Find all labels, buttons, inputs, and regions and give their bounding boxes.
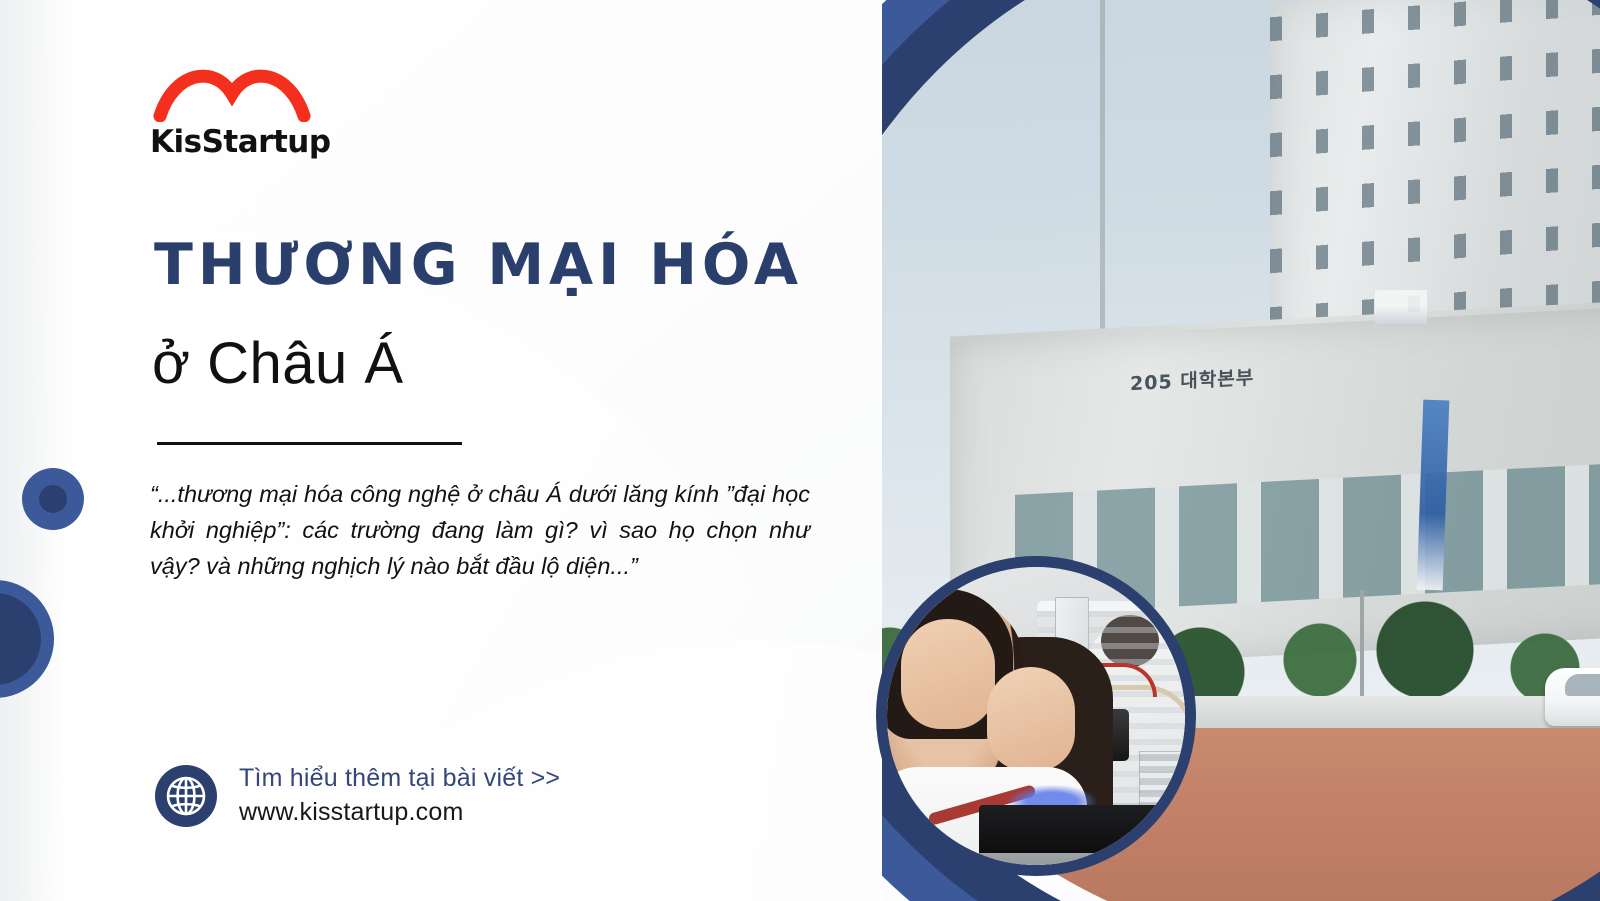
- globe-icon-glyph: [155, 765, 217, 827]
- logo-wordmark: KisStartup: [150, 124, 352, 160]
- page-title: THƯƠNG MẠI HÓA: [154, 232, 803, 298]
- poster-canvas: 205 대학본부: [0, 0, 1600, 901]
- students-lab-robotics-photo: [876, 556, 1196, 876]
- title-divider: [157, 442, 462, 445]
- footer-link-block[interactable]: Tìm hiểu thêm tại bài viết >> www.kissta…: [155, 764, 560, 827]
- inset-student-a-face: [901, 619, 995, 729]
- inset-student-b-face: [987, 667, 1075, 771]
- m-arc-logo-icon: [152, 60, 328, 122]
- arc-left-mask: [880, 0, 882, 901]
- inset-device-base: [979, 805, 1189, 859]
- website-url[interactable]: www.kisstartup.com: [239, 798, 560, 827]
- content-column: KisStartup THƯƠNG MẠI HÓA ở Châu Á “...t…: [0, 0, 880, 901]
- read-more-label[interactable]: Tìm hiểu thêm tại bài viết >>: [239, 764, 560, 793]
- globe-icon: [155, 765, 217, 827]
- kisstartup-logo[interactable]: KisStartup: [152, 60, 352, 160]
- quote-text: “...thương mại hóa công nghệ ở châu Á dư…: [150, 476, 810, 584]
- page-subtitle: ở Châu Á: [152, 330, 404, 397]
- footer-text-group: Tìm hiểu thêm tại bài viết >> www.kissta…: [239, 764, 560, 827]
